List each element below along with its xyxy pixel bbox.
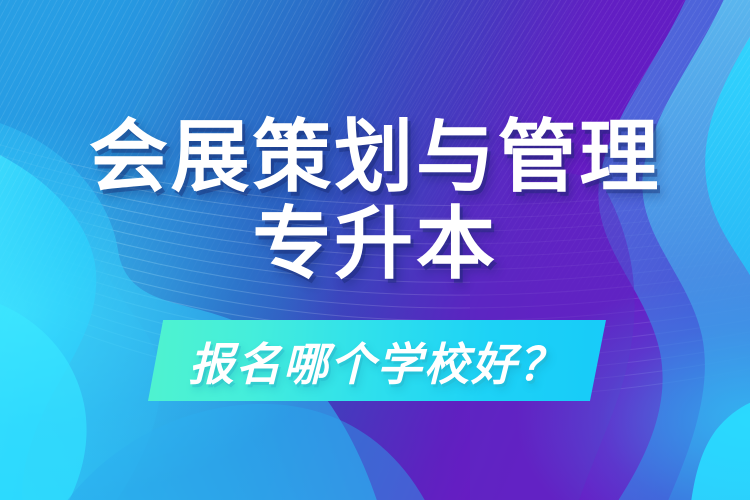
promo-banner: 会展策划与管理 专升本 报名哪个学校好？ (0, 0, 750, 500)
ribbon-label: 报名哪个学校好？ (148, 320, 606, 401)
headline-block: 会展策划与管理 专升本 (0, 118, 750, 283)
headline-line-1: 会展策划与管理 (0, 118, 750, 196)
headline-line-2: 专升本 (0, 205, 750, 283)
